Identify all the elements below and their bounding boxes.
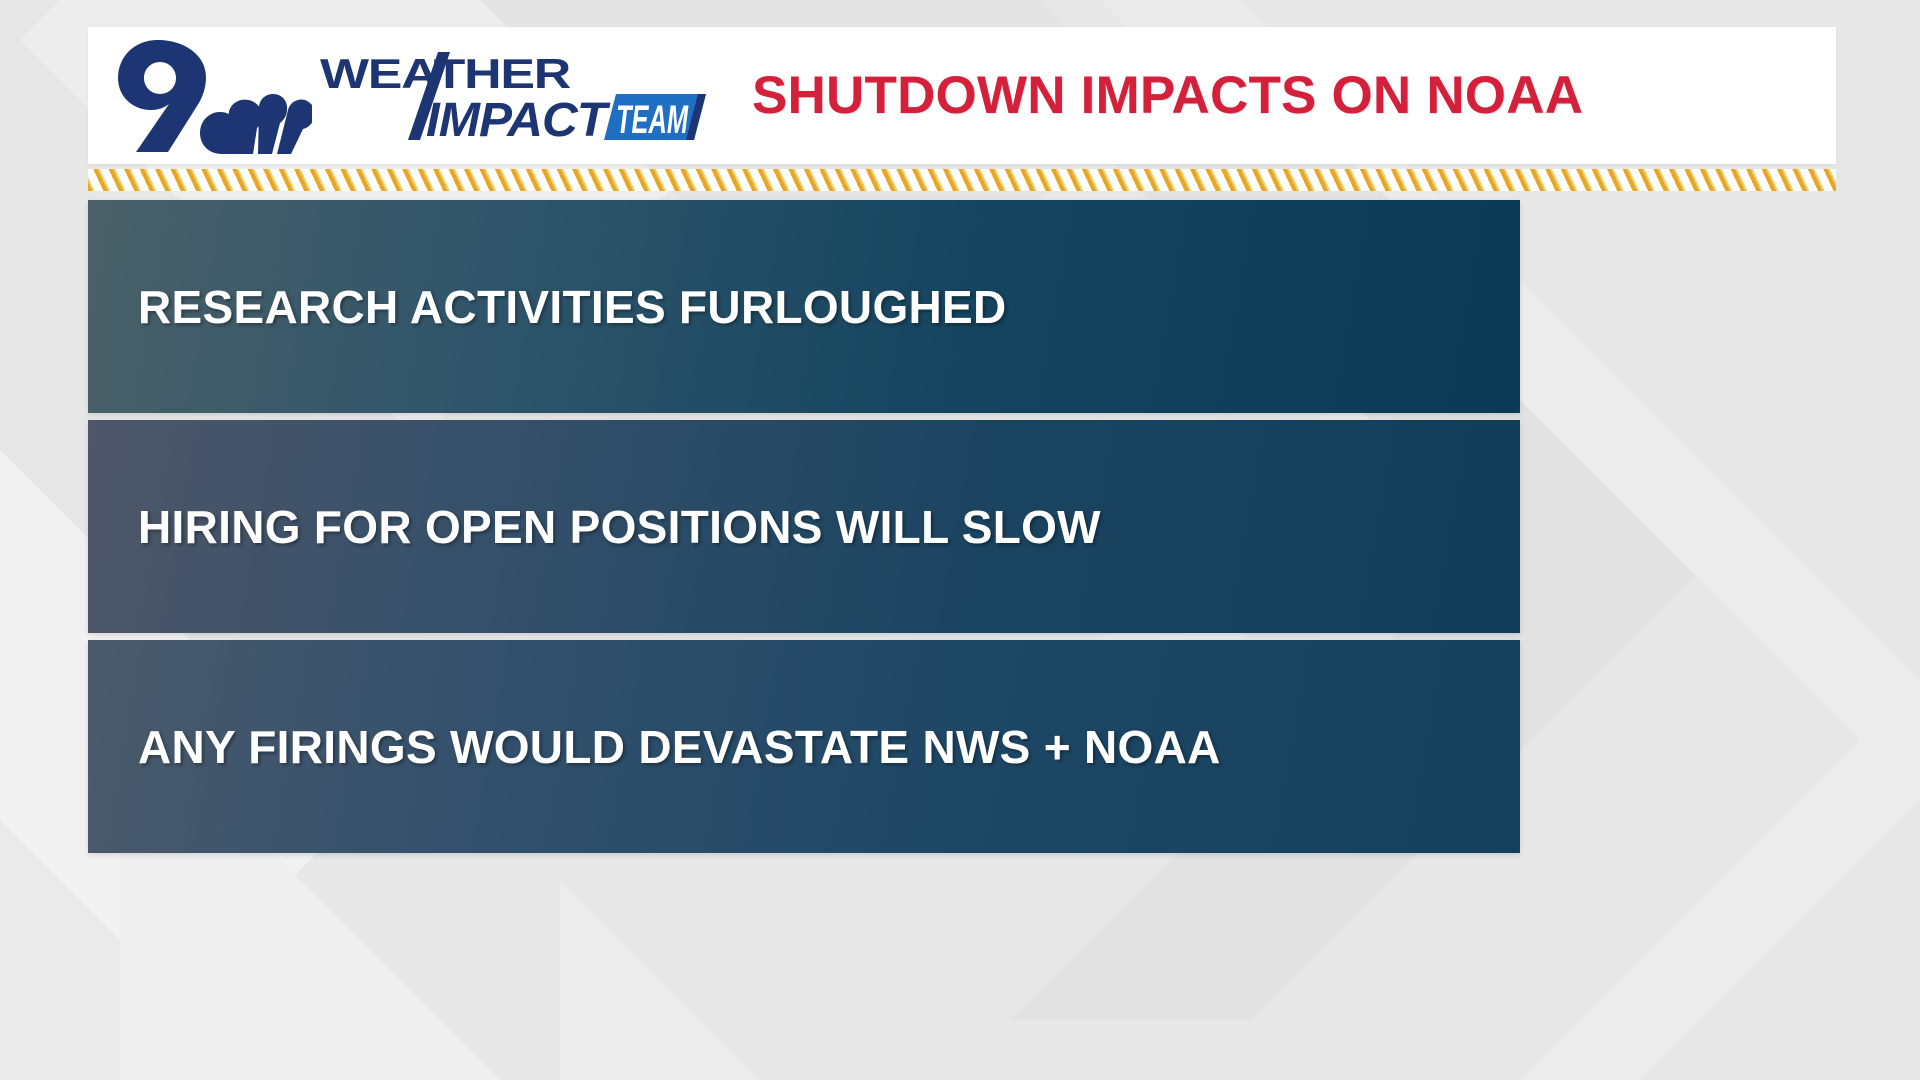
channel-9-peacock-logo-icon [112,38,312,154]
info-bar-2-label: HIRING FOR OPEN POSITIONS WILL SLOW [138,500,1101,554]
broadcast-graphic-fullscreen: WEATHER IMPACT TEAM SHUTDOWN IMPACTS ON … [0,0,1920,1080]
station-brand-lockup: WEATHER IMPACT TEAM [112,27,706,164]
weather-impact-team-logo-icon: WEATHER IMPACT TEAM [316,48,706,144]
weather-wordmark: WEATHER [320,50,571,97]
header-bar: WEATHER IMPACT TEAM SHUTDOWN IMPACTS ON … [88,27,1836,164]
hatched-divider [88,169,1836,191]
info-bar-3: ANY FIRINGS WOULD DEVASTATE NWS + NOAA [88,640,1520,853]
info-bar-1-label: RESEARCH ACTIVITIES FURLOUGHED [138,280,1007,334]
team-wordmark: TEAM [616,98,689,142]
info-bar-1: RESEARCH ACTIVITIES FURLOUGHED [88,200,1520,413]
info-bar-3-label: ANY FIRINGS WOULD DEVASTATE NWS + NOAA [138,720,1221,774]
info-bar-2: HIRING FOR OPEN POSITIONS WILL SLOW [88,420,1520,633]
page-title: SHUTDOWN IMPACTS ON NOAA [752,69,1583,122]
impact-wordmark: IMPACT [426,94,611,144]
